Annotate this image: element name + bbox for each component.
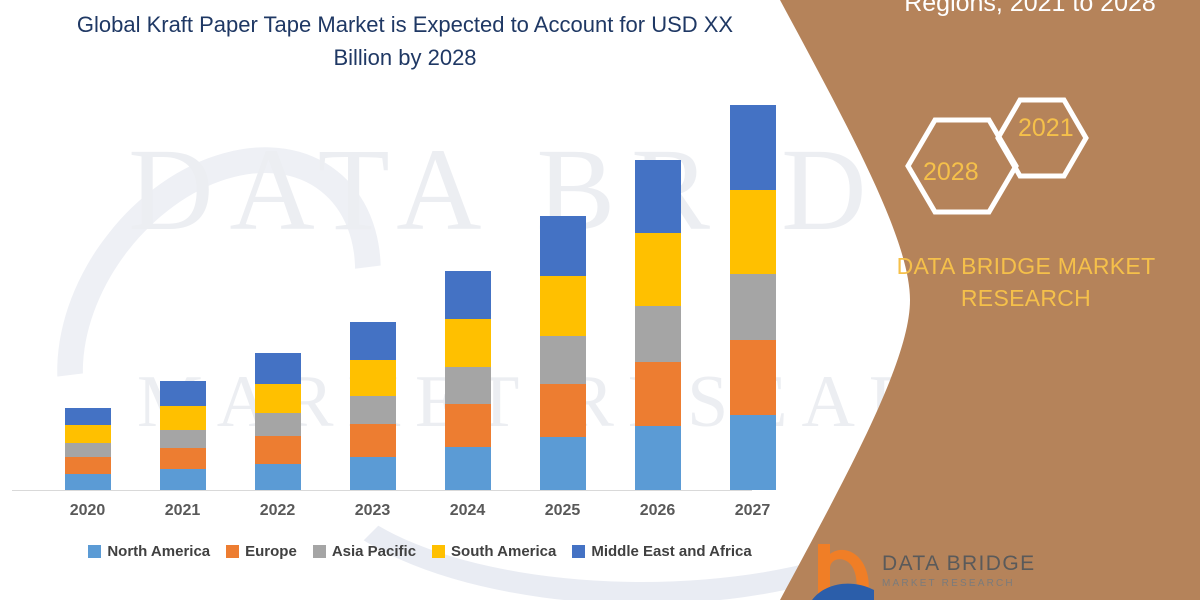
stacked-bar-2026	[635, 160, 681, 490]
hexagon-2021-label: 2021	[1018, 114, 1074, 143]
bar-segment	[540, 437, 586, 490]
bar-segment	[350, 360, 396, 396]
x-axis-line	[12, 490, 752, 491]
bar-segment	[635, 306, 681, 362]
bar-segment	[350, 322, 396, 359]
bar-segment	[730, 274, 776, 340]
bar-segment	[65, 457, 111, 473]
brand-heading: Regions, 2021 to 2028	[860, 0, 1200, 20]
x-axis-label-2020: 2020	[40, 498, 135, 524]
bar-segment	[160, 469, 206, 490]
legend-label: North America	[107, 543, 210, 560]
bar-segment	[445, 447, 491, 490]
bar-column	[230, 105, 325, 490]
bar-segment	[445, 404, 491, 447]
legend-label: Middle East and Africa	[591, 543, 751, 560]
bar-segment	[255, 413, 301, 436]
legend-item[interactable]: Asia Pacific	[313, 543, 416, 560]
x-axis-label-2026: 2026	[610, 498, 705, 524]
dbmr-logo: DATA BRIDGE MARKET RESEARCH	[810, 538, 1040, 600]
x-axis-label-2027: 2027	[705, 498, 800, 524]
bar-segment	[445, 319, 491, 367]
bar-column	[325, 105, 420, 490]
legend-label: Europe	[245, 543, 297, 560]
bar-segment	[540, 216, 586, 276]
dbmr-logo-subtext: MARKET RESEARCH	[882, 578, 1015, 589]
bar-segment	[445, 271, 491, 319]
dbmr-logo-text: DATA BRIDGE	[882, 552, 1035, 576]
bar-segment	[160, 381, 206, 405]
bar-segment	[350, 396, 396, 425]
x-axis-label-2021: 2021	[135, 498, 230, 524]
legend-swatch-icon	[313, 545, 326, 558]
bar-column	[135, 105, 230, 490]
stacked-bar-2022	[255, 353, 301, 490]
bar-column	[515, 105, 610, 490]
bar-segment	[255, 384, 301, 414]
legend-item[interactable]: North America	[88, 543, 210, 560]
bar-segment	[445, 367, 491, 404]
legend-swatch-icon	[572, 545, 585, 558]
bar-column	[40, 105, 135, 490]
legend-item[interactable]: South America	[432, 543, 556, 560]
bar-segment	[730, 415, 776, 490]
bar-segment	[65, 443, 111, 457]
x-axis-label-2025: 2025	[515, 498, 610, 524]
dbmr-bridge-icon	[810, 538, 880, 600]
bar-segment	[65, 474, 111, 490]
x-axis-label-2024: 2024	[420, 498, 515, 524]
legend-swatch-icon	[226, 545, 239, 558]
infographic-canvas: DATA BRIDGE MARKET RESEARCH Global Kraft…	[0, 0, 1200, 600]
bar-column	[420, 105, 515, 490]
bar-segment	[635, 426, 681, 490]
legend-label: Asia Pacific	[332, 543, 416, 560]
bar-segment	[730, 190, 776, 274]
stacked-bar-series-group	[40, 105, 800, 490]
legend-item[interactable]: Europe	[226, 543, 297, 560]
x-axis-label-2023: 2023	[325, 498, 420, 524]
stacked-bar-2020	[65, 408, 111, 490]
bar-segment	[540, 336, 586, 383]
bar-segment	[350, 457, 396, 490]
bar-segment	[255, 464, 301, 490]
x-axis-tick-labels: 20202021202220232024202520262027	[40, 498, 800, 524]
stacked-bar-2025	[540, 216, 586, 490]
stacked-bar-2021	[160, 381, 206, 490]
x-axis-label-2022: 2022	[230, 498, 325, 524]
hexagon-group: 2028 2021	[878, 96, 1178, 236]
bar-segment	[255, 436, 301, 463]
bar-segment	[635, 362, 681, 427]
bar-segment	[255, 353, 301, 384]
bar-segment	[160, 430, 206, 449]
stacked-bar-2023	[350, 322, 396, 490]
bar-segment	[160, 406, 206, 430]
bar-segment	[350, 424, 396, 457]
stacked-bar-2027	[730, 105, 776, 490]
bar-column	[610, 105, 705, 490]
bar-segment	[730, 340, 776, 416]
legend-swatch-icon	[432, 545, 445, 558]
chart-legend: North AmericaEuropeAsia PacificSouth Ame…	[40, 538, 800, 564]
bar-segment	[730, 105, 776, 189]
bar-segment	[635, 233, 681, 305]
bar-segment	[540, 384, 586, 438]
bar-segment	[65, 425, 111, 443]
brand-name: DATA BRIDGE MARKET RESEARCH	[866, 250, 1186, 314]
stacked-bar-2024	[445, 271, 491, 490]
legend-swatch-icon	[88, 545, 101, 558]
chart-plot-area	[40, 100, 800, 490]
legend-label: South America	[451, 543, 556, 560]
chart-title: Global Kraft Paper Tape Market is Expect…	[60, 8, 750, 74]
hexagon-2028-label: 2028	[923, 158, 979, 187]
bar-segment	[540, 276, 586, 336]
bar-segment	[635, 160, 681, 233]
bar-column	[705, 105, 800, 490]
bar-segment	[160, 448, 206, 469]
legend-item[interactable]: Middle East and Africa	[572, 543, 751, 560]
bar-segment	[65, 408, 111, 426]
